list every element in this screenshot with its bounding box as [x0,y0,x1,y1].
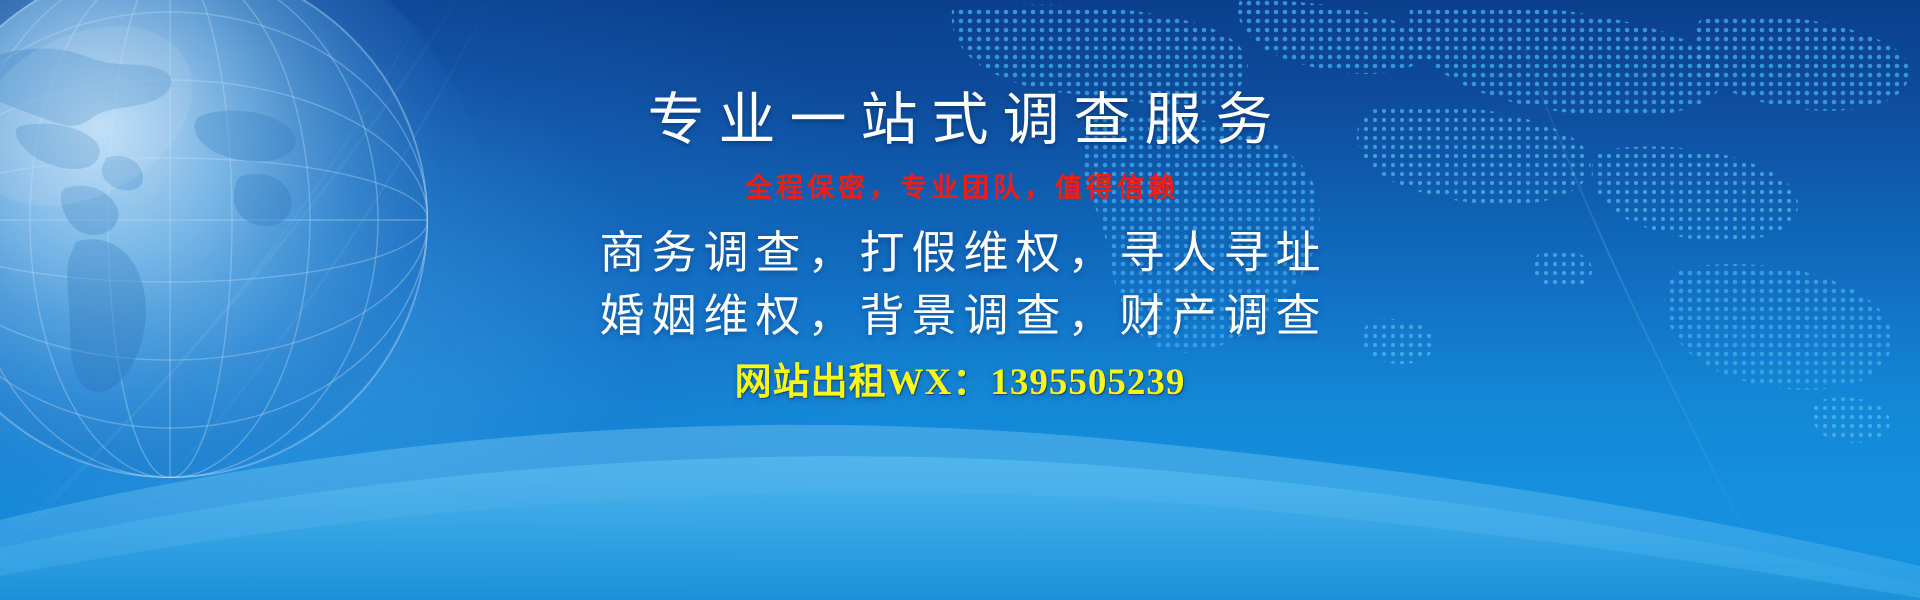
contact-wechat: 网站出租WX：1395505239 [735,364,1186,401]
banner-text-block: 专业一站式调查服务 全程保密，专业团队，值得信赖 商务调查，打假维权，寻人寻址 … [0,0,1920,600]
service-line-1: 商务调查，打假维权，寻人寻址 [592,230,1327,275]
promo-banner: 专业一站式调查服务 全程保密，专业团队，值得信赖 商务调查，打假维权，寻人寻址 … [0,0,1920,600]
service-line-2: 婚姻维权，背景调查，财产调查 [592,293,1327,338]
banner-headline: 专业一站式调查服务 [634,92,1287,149]
banner-subtitle: 全程保密，专业团队，值得信赖 [741,175,1179,202]
